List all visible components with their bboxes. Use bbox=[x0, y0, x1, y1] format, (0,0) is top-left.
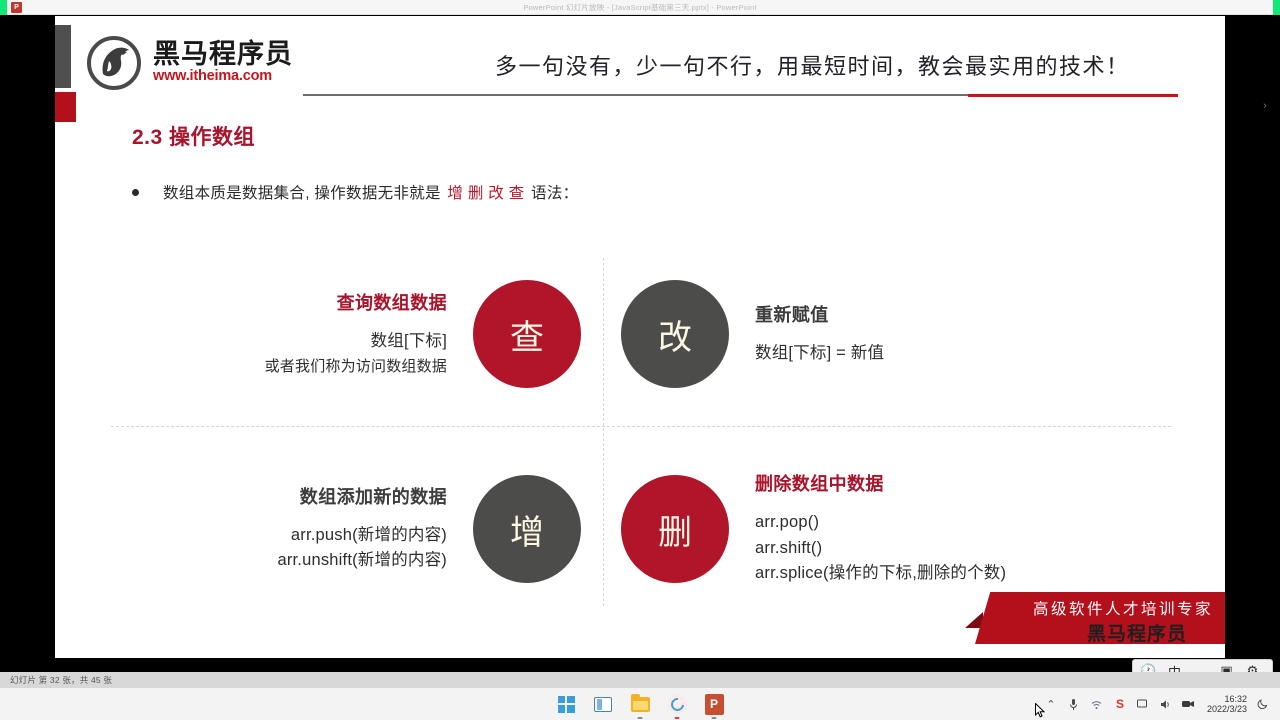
quadrant-query-line-2: 或者我们称为访问数组数据 bbox=[265, 355, 447, 378]
mouse-cursor bbox=[1035, 703, 1046, 719]
quadrant-update-text: 重新赋值 数组[下标] = 新值 bbox=[729, 302, 884, 366]
quadrant-delete-line-1: arr.pop() bbox=[755, 510, 1006, 536]
quadrant-add: 数组添加新的数据 arr.push(新增的内容) arr.unshift(新增的… bbox=[111, 439, 581, 619]
network-icon[interactable] bbox=[1090, 699, 1104, 710]
grid-divider-vertical bbox=[603, 258, 604, 606]
brand-url: www.itheima.com bbox=[153, 68, 293, 85]
circle-delete: 删 bbox=[621, 475, 729, 583]
clock-time: 16:32 bbox=[1207, 694, 1247, 704]
windows-taskbar: P ⌃ S 16:32 2022/3/23 bbox=[0, 688, 1280, 720]
powerpoint-button[interactable]: P bbox=[702, 692, 726, 716]
bullet-line: 数组本质是数据集合, 操作数据无非就是 增 删 改 查 语法： bbox=[132, 181, 578, 203]
qq-icon bbox=[667, 694, 687, 714]
camera-icon[interactable] bbox=[1182, 699, 1196, 709]
quadrant-query-text: 查询数组数据 数组[下标] 或者我们称为访问数组数据 bbox=[265, 290, 473, 378]
quadrant-delete-line-3: arr.splice(操作的下标,删除的个数) bbox=[755, 561, 1006, 587]
footer-banner-line2: 黑马程序员 bbox=[1087, 619, 1187, 646]
quadrant-query: 查询数组数据 数组[下标] 或者我们称为访问数组数据 查 bbox=[111, 244, 581, 424]
window-titlebar: P PowerPoint 幻灯片放映 - [JavaScript基础第三天.pp… bbox=[7, 0, 1273, 15]
powerpoint-icon: P bbox=[705, 694, 724, 715]
next-slide-arrow-icon[interactable]: › bbox=[1259, 99, 1271, 113]
bullet-highlight: 增 删 改 查 bbox=[445, 185, 526, 202]
bullet-text: 数组本质是数据集合, 操作数据无非就是 增 删 改 查 语法： bbox=[163, 181, 578, 203]
crud-grid: 查询数组数据 数组[下标] 或者我们称为访问数组数据 查 改 重新赋值 数组[下… bbox=[111, 244, 1171, 604]
quadrant-query-heading: 查询数组数据 bbox=[265, 290, 447, 318]
horse-head-logo-icon bbox=[85, 34, 143, 92]
quadrant-update-line-1: 数组[下标] = 新值 bbox=[755, 341, 884, 367]
quadrant-delete-heading: 删除数组中数据 bbox=[755, 471, 1006, 499]
decor-bar-gray bbox=[55, 25, 71, 88]
folder-icon bbox=[631, 697, 650, 712]
tagline-rule-accent bbox=[968, 94, 1178, 97]
quadrant-add-line-1: arr.push(新增的内容) bbox=[277, 523, 447, 549]
qq-button[interactable] bbox=[665, 692, 689, 716]
clock-date: 2022/3/23 bbox=[1207, 704, 1247, 714]
running-indicator bbox=[712, 717, 717, 719]
system-tray: ⌃ S 16:32 2022/3/23 bbox=[1044, 688, 1276, 720]
running-indicator bbox=[638, 717, 643, 719]
volume-icon[interactable] bbox=[1159, 699, 1173, 710]
file-explorer-button[interactable] bbox=[628, 692, 652, 716]
taskbar-clock[interactable]: 16:32 2022/3/23 bbox=[1205, 694, 1247, 715]
microphone-icon[interactable] bbox=[1067, 698, 1081, 711]
bullet-suffix: 语法： bbox=[526, 185, 578, 202]
brand-name: 黑马程序员 bbox=[153, 40, 293, 68]
quadrant-update: 改 重新赋值 数组[下标] = 新值 bbox=[621, 244, 1171, 424]
windows-logo-icon bbox=[558, 696, 575, 713]
quadrant-query-line-1: 数组[下标] bbox=[265, 329, 447, 355]
bullet-dot-icon bbox=[132, 189, 139, 196]
quadrant-add-text: 数组添加新的数据 arr.push(新增的内容) arr.unshift(新增的… bbox=[277, 484, 473, 574]
notification-icon[interactable] bbox=[1256, 698, 1270, 710]
footer-banner: 高级软件人才培训专家 黑马程序员 bbox=[969, 592, 1225, 650]
bullet-prefix: 数组本质是数据集合, 操作数据无非就是 bbox=[163, 185, 445, 202]
quadrant-add-line-2: arr.unshift(新增的内容) bbox=[277, 548, 447, 574]
running-indicator bbox=[675, 717, 680, 719]
powerpoint-statusbar: 幻灯片 第 32 张，共 45 张 bbox=[0, 672, 1280, 688]
task-view-icon bbox=[594, 697, 612, 712]
slide-tagline: 多一句没有，少一句不行，用最短时间，教会最实用的技术！ bbox=[495, 49, 1185, 81]
grid-divider-horizontal bbox=[111, 426, 1171, 427]
screen: P PowerPoint 幻灯片放映 - [JavaScript基础第三天.pp… bbox=[0, 0, 1280, 720]
quadrant-update-heading: 重新赋值 bbox=[755, 302, 884, 330]
window-title: PowerPoint 幻灯片放映 - [JavaScript基础第三天.pptx… bbox=[523, 2, 756, 13]
page-title: 2.3 操作数组 bbox=[132, 121, 255, 151]
brand-logo: 黑马程序员 www.itheima.com bbox=[85, 34, 293, 92]
display-icon[interactable] bbox=[1136, 699, 1150, 710]
circle-update: 改 bbox=[621, 280, 729, 388]
decor-bar-red bbox=[55, 92, 76, 122]
powerpoint-icon: P bbox=[11, 2, 22, 13]
show-hidden-icons-button[interactable]: ⌃ bbox=[1044, 698, 1058, 711]
quadrant-delete-line-2: arr.shift() bbox=[755, 536, 1006, 562]
quadrant-delete-text: 删除数组中数据 arr.pop() arr.shift() arr.splice… bbox=[729, 471, 1006, 587]
circle-add: 增 bbox=[473, 475, 581, 583]
start-button[interactable] bbox=[554, 692, 578, 716]
slide-counter: 幻灯片 第 32 张，共 45 张 bbox=[0, 674, 112, 686]
footer-banner-line1: 高级软件人才培训专家 bbox=[1033, 597, 1213, 619]
sogou-ime-icon[interactable]: S bbox=[1113, 697, 1127, 711]
circle-query: 查 bbox=[473, 280, 581, 388]
quadrant-add-heading: 数组添加新的数据 bbox=[277, 484, 447, 512]
slide-canvas[interactable]: 黑马程序员 www.itheima.com 多一句没有，少一句不行，用最短时间，… bbox=[55, 16, 1225, 658]
task-view-button[interactable] bbox=[591, 692, 615, 716]
